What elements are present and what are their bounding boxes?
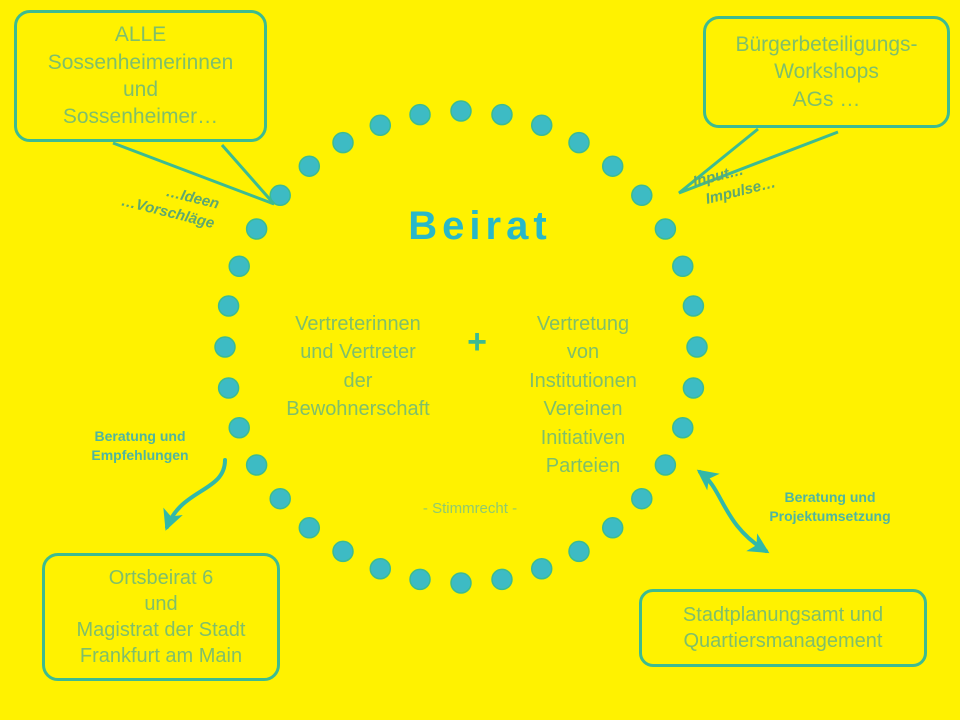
box-ortsbeirat-line-1: Ortsbeirat 6	[55, 565, 267, 591]
box-ortsbeirat-line-3: Magistrat der Stadt	[55, 617, 267, 643]
circle-dot	[673, 256, 693, 276]
box-ortsbeirat-line-2: und	[55, 591, 267, 617]
center-left-line-2: und Vertreter	[258, 338, 458, 366]
circle-dot	[532, 115, 552, 135]
circle-dot	[215, 337, 235, 357]
center-right-line-2: von	[490, 338, 676, 366]
bubble-all-line-1: ALLE	[27, 21, 254, 48]
center-left-line-1: Vertreterinnen	[258, 310, 458, 338]
circle-dot	[683, 296, 703, 316]
center-left-column: Vertreterinnen und Vertreter der Bewohne…	[258, 310, 458, 424]
center-right-line-5: Initiativen	[490, 424, 676, 452]
circle-dot	[229, 256, 249, 276]
circle-dot	[229, 418, 249, 438]
circle-dot	[370, 115, 390, 135]
bubble-workshops-line-2: Workshops	[716, 58, 937, 85]
circle-dot	[299, 518, 319, 538]
center-left-line-4: Bewohnerschaft	[258, 395, 458, 423]
center-right-line-6: Parteien	[490, 452, 676, 480]
circle-dot	[333, 133, 353, 153]
box-stadtplanung-line-2: Quartiersmanagement	[652, 628, 914, 654]
bubble-all-line-3: und	[27, 76, 254, 103]
box-ortsbeirat-magistrat: Ortsbeirat 6 und Magistrat der Stadt Fra…	[42, 553, 280, 681]
circle-dot	[492, 105, 512, 125]
circle-dot	[569, 133, 589, 153]
circle-dot	[299, 156, 319, 176]
bubble-all-line-2: Sossenheimerinnen	[27, 49, 254, 76]
circle-dot	[333, 541, 353, 561]
circle-dot	[569, 541, 589, 561]
diagram-canvas: Beirat Vertreterinnen und Vertreter der …	[0, 0, 960, 720]
circle-dot	[532, 559, 552, 579]
circle-dot	[219, 378, 239, 398]
annotation-beratung-proj-line-1: Beratung und	[785, 489, 876, 505]
circle-dot	[370, 559, 390, 579]
circle-dot	[632, 489, 652, 509]
box-stadtplanungsamt-quartiersmanagement: Stadtplanungsamt und Quartiersmanagement	[639, 589, 927, 667]
voting-rights-note: - Stimmrecht -	[350, 500, 590, 517]
circle-dot	[632, 185, 652, 205]
speech-bubble-all-residents: ALLE Sossenheimerinnen und Sossenheimer…	[14, 10, 267, 142]
annotation-beratung-empf-line-2: Empfehlungen	[91, 447, 188, 463]
annotation-beratung-proj-line-2: Projektumsetzung	[769, 508, 890, 524]
annotation-beratung-empfehlungen: Beratung und Empfehlungen	[70, 427, 210, 465]
circle-dot	[687, 337, 707, 357]
circle-dot	[247, 455, 267, 475]
center-right-line-1: Vertretung	[490, 310, 676, 338]
center-left-line-3: der	[258, 367, 458, 395]
bubble-workshops-line-3: AGs …	[716, 86, 937, 113]
circle-dot	[270, 185, 290, 205]
annotation-beratung-projektumsetzung: Beratung und Projektumsetzung	[740, 488, 920, 526]
circle-dot	[410, 105, 430, 125]
circle-dot	[683, 378, 703, 398]
circle-dot	[603, 156, 623, 176]
center-right-column: Vertretung von Institutionen Vereinen In…	[490, 310, 676, 480]
circle-dot	[492, 569, 512, 589]
circle-dot	[219, 296, 239, 316]
arrow-beratung-empfehlungen	[167, 460, 225, 527]
bubble-workshops-line-1: Bürgerbeteiligungs-	[716, 31, 937, 58]
circle-dot	[270, 489, 290, 509]
circle-dot	[410, 569, 430, 589]
speech-bubble-workshops: Bürgerbeteiligungs- Workshops AGs …	[703, 16, 950, 128]
center-right-line-3: Institutionen	[490, 367, 676, 395]
bubble-all-line-4: Sossenheimer…	[27, 103, 254, 130]
center-right-line-4: Vereinen	[490, 395, 676, 423]
annotation-beratung-empf-line-1: Beratung und	[95, 428, 186, 444]
circle-dot	[603, 518, 623, 538]
box-stadtplanung-line-1: Stadtplanungsamt und	[652, 602, 914, 628]
box-ortsbeirat-line-4: Frankfurt am Main	[55, 643, 267, 669]
circle-dot	[451, 573, 471, 593]
circle-dot	[451, 101, 471, 121]
